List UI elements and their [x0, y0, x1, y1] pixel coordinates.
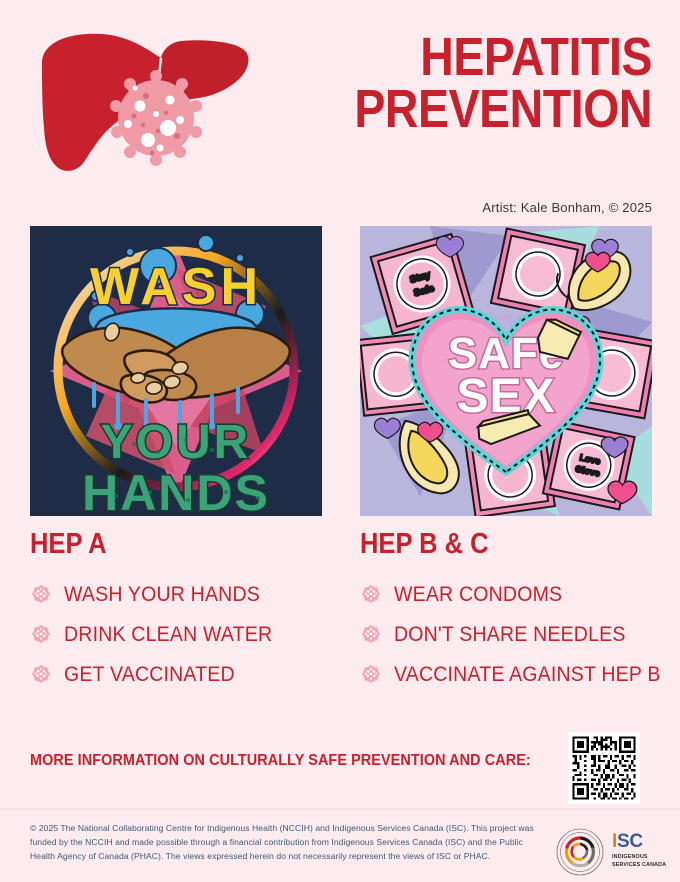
list-item-label: DON'T SHARE NEEDLES — [394, 624, 626, 645]
poster-title: HEPATITIS PREVENTION — [302, 32, 652, 136]
list-item: WASH YOUR HANDS — [30, 581, 350, 607]
isc-wordmark: ISC — [612, 832, 670, 851]
virus-bullet-icon — [360, 663, 382, 685]
artist-credit: Artist: Kale Bonham, © 2025 — [482, 200, 652, 215]
title-line-2: PREVENTION — [351, 84, 652, 136]
wash-your-hands-illustration: WASH — [30, 226, 322, 516]
qr-code[interactable] — [568, 732, 640, 804]
isc-letters-sc: SC — [617, 831, 643, 852]
list-item-label: GET VACCINATED — [64, 664, 235, 685]
list-item-label: VACCINATE AGAINST HEP B — [394, 664, 661, 685]
list-item: WEAR CONDOMS — [360, 581, 670, 607]
isc-subtitle: INDIGENOUS SERVICES CANADA — [612, 854, 670, 869]
hep-a-heading: HEP A — [30, 530, 312, 559]
svg-text:HANDS: HANDS — [82, 465, 270, 516]
virus-bullet-icon — [360, 583, 382, 605]
isc-logo: ISC INDIGENOUS SERVICES CANADA — [612, 832, 670, 872]
list-item: GET VACCINATED — [30, 661, 350, 687]
hep-bc-heading: HEP B & C — [360, 530, 633, 559]
svg-text:YOUR: YOUR — [101, 416, 252, 469]
poster-header: HEPATITIS PREVENTION Artist: Kale Bonham… — [0, 0, 680, 200]
virus-bullet-icon — [30, 663, 52, 685]
liver-with-virus-icon — [30, 28, 255, 178]
title-line-1: HEPATITIS — [351, 32, 652, 84]
list-item-label: WEAR CONDOMS — [394, 584, 562, 605]
virus-bullet-icon — [30, 583, 52, 605]
list-item-label: WASH YOUR HANDS — [64, 584, 260, 605]
hep-bc-list: WEAR CONDOMS — [360, 581, 670, 687]
more-information-label: MORE INFORMATION ON CULTURALLY SAFE PREV… — [30, 752, 531, 770]
nccih-circle-logo — [556, 828, 604, 876]
artwork-panels: WASH — [0, 226, 680, 516]
prevention-columns: HEP A — [0, 530, 680, 720]
footer-logos: ISC INDIGENOUS SERVICES CANADA — [556, 826, 672, 876]
virus-bullet-icon — [360, 623, 382, 645]
poster-root: HEPATITIS PREVENTION Artist: Kale Bonham… — [0, 0, 680, 882]
safe-sex-illustration: Stay Safe — [360, 226, 652, 516]
footer-copyright: © 2025 The National Collaborating Centre… — [30, 822, 535, 864]
list-item: VACCINATE AGAINST HEP B — [360, 661, 670, 687]
list-item: DRINK CLEAN WATER — [30, 621, 350, 647]
list-item-label: DRINK CLEAN WATER — [64, 624, 272, 645]
hep-a-column: HEP A — [30, 530, 350, 701]
hep-a-list: WASH YOUR HANDS — [30, 581, 350, 687]
list-item: DON'T SHARE NEEDLES — [360, 621, 670, 647]
poster-footer: © 2025 The National Collaborating Centre… — [0, 810, 680, 882]
hep-bc-column: HEP B & C — [360, 530, 670, 701]
virus-bullet-icon — [30, 623, 52, 645]
